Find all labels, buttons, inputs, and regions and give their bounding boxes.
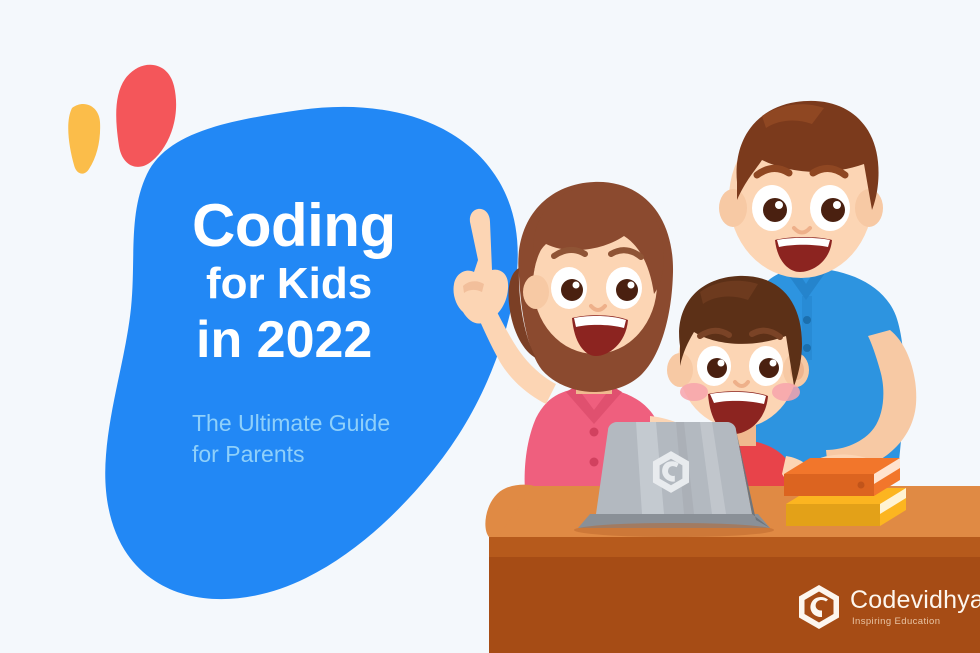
- books: [784, 458, 906, 526]
- logo-text-wrap: Codevidhya® Inspiring Education: [850, 588, 980, 627]
- title-line-2: for Kids: [206, 262, 492, 306]
- title-line-3: in 2022: [196, 314, 492, 366]
- desk-edge: [489, 537, 980, 557]
- poster-canvas: Coding for Kids in 2022 The Ultimate Gui…: [0, 0, 980, 653]
- logo-tagline: Inspiring Education: [852, 617, 980, 627]
- logo-wordmark-text: Codevidhya: [850, 586, 980, 614]
- logo-wordmark: Codevidhya®: [850, 588, 980, 613]
- hexagon-c-logo-icon: [797, 584, 841, 630]
- subtitle-text: The Ultimate Guide for Parents: [192, 408, 492, 470]
- title-line-1: Coding: [192, 196, 492, 256]
- headline-block: Coding for Kids in 2022 The Ultimate Gui…: [192, 196, 492, 470]
- brand-logo[interactable]: Codevidhya® Inspiring Education: [797, 584, 980, 630]
